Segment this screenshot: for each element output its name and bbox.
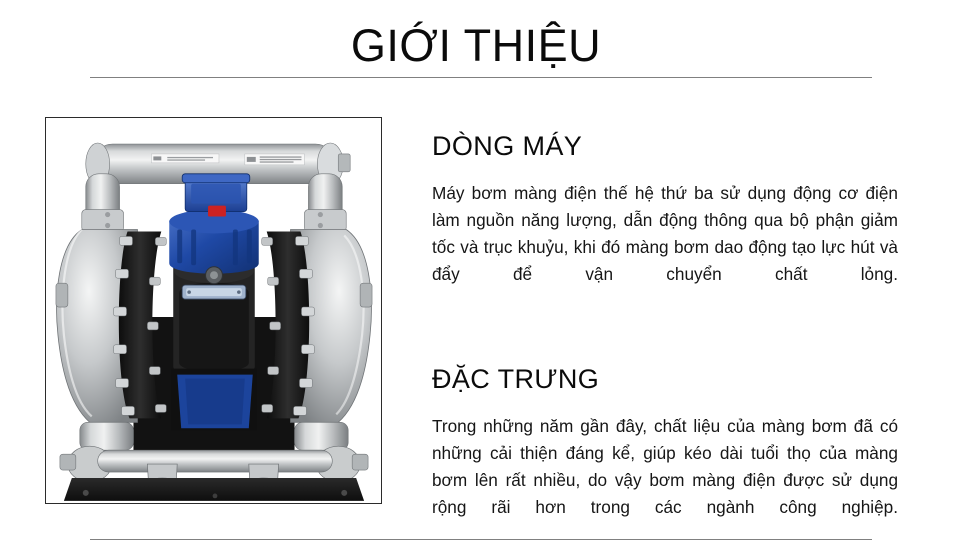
page-title: GIỚI THIỆU bbox=[0, 20, 952, 72]
diaphragm-pump-photo bbox=[46, 118, 381, 503]
section-dong-may: DÒNG MÁY Máy bơm màng điện thế hệ thứ ba… bbox=[432, 130, 898, 315]
product-photo-frame bbox=[45, 117, 382, 504]
section-body-dac-trung: Trong những năm gần đây, chất liệu của m… bbox=[432, 413, 898, 548]
text-column: DÒNG MÁY Máy bơm màng điện thế hệ thứ ba… bbox=[432, 130, 898, 548]
section-dac-trung: ĐẶC TRƯNG Trong những năm gần đây, chất … bbox=[432, 363, 898, 548]
divider-bottom bbox=[90, 539, 872, 540]
section-body-dong-may: Máy bơm màng điện thế hệ thứ ba sử dụng … bbox=[432, 180, 898, 315]
divider-top bbox=[90, 77, 872, 78]
slide-root: GIỚI THIỆU bbox=[0, 0, 960, 560]
section-heading-dong-may: DÒNG MÁY bbox=[432, 130, 898, 162]
section-heading-dac-trung: ĐẶC TRƯNG bbox=[432, 363, 898, 395]
